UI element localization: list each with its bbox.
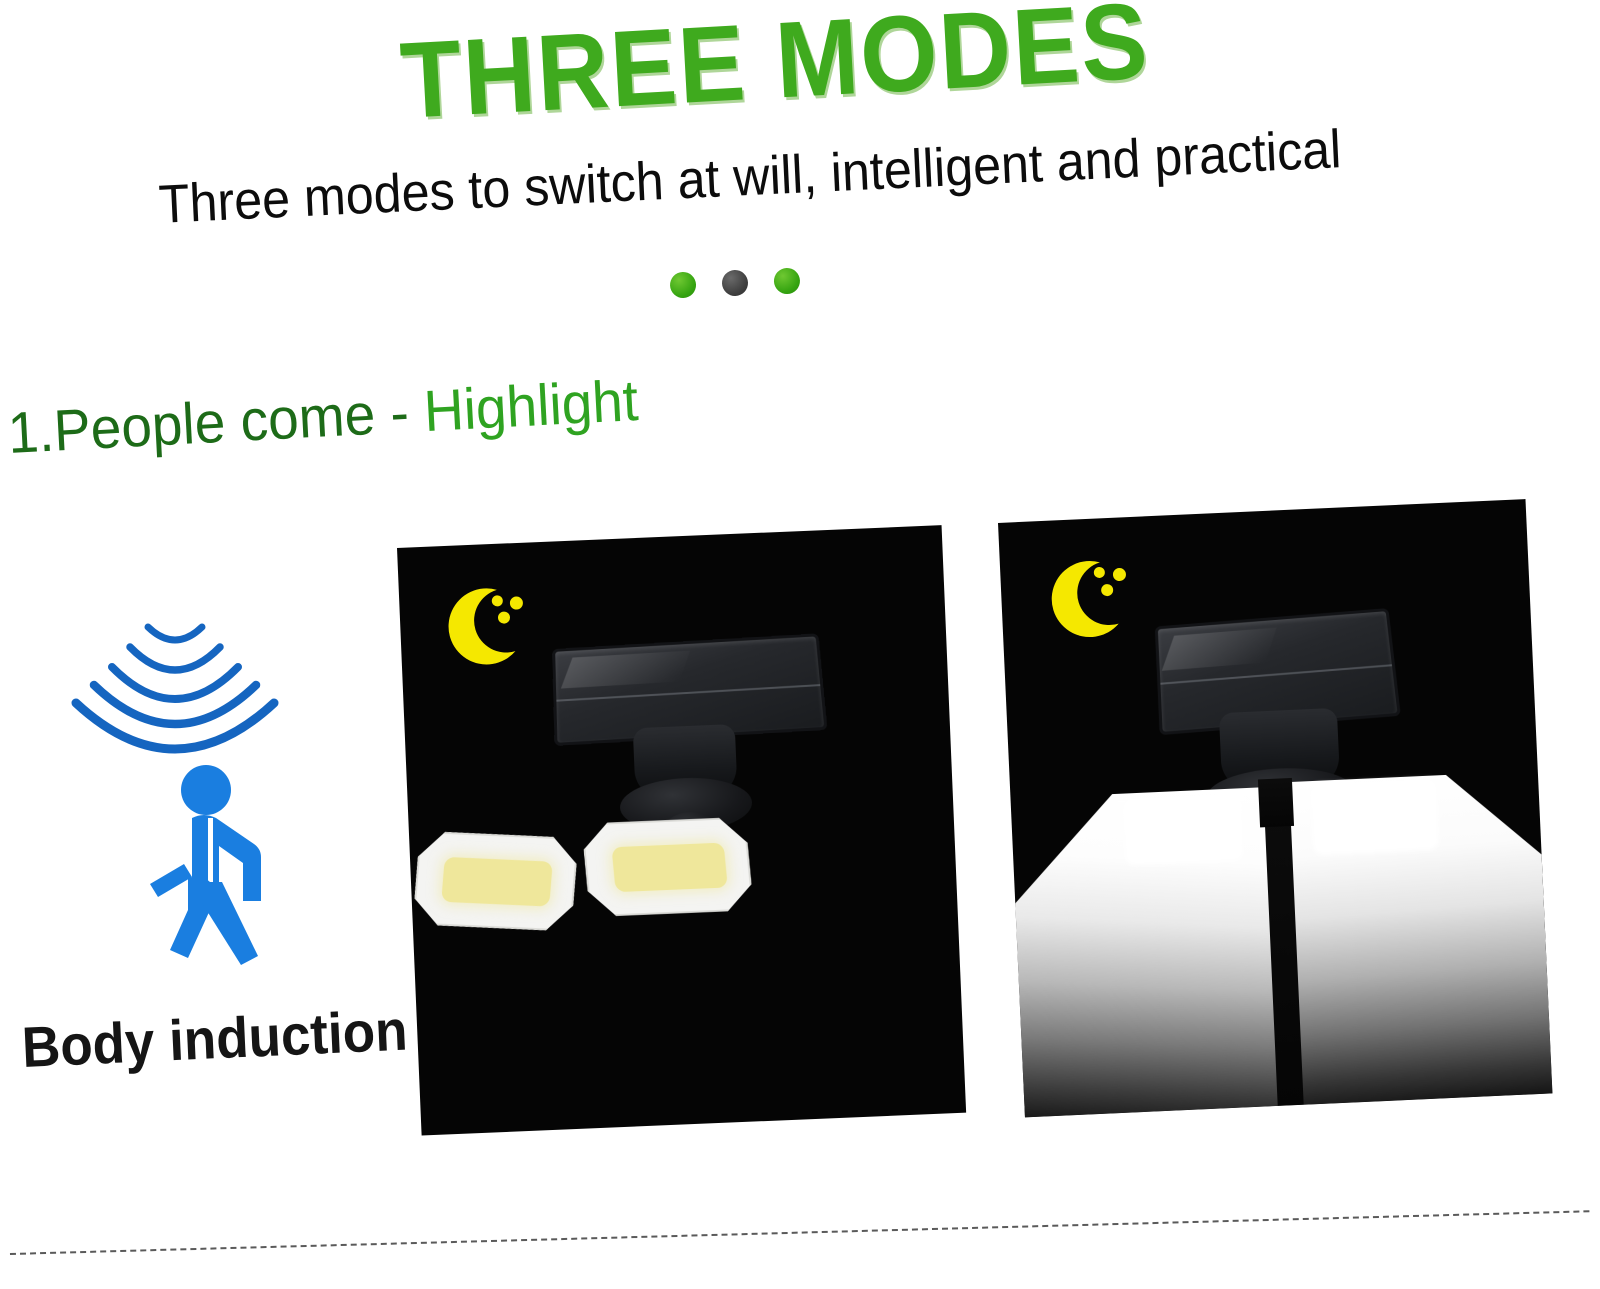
pagination-dot-1[interactable] [670, 272, 697, 299]
header-block: THREE MODES Three modes to switch at wil… [0, 0, 1600, 250]
center-mount-shadow [1258, 778, 1294, 827]
cob-led-right [611, 843, 727, 892]
page-subtitle: Three modes to switch at will, intellige… [80, 118, 1420, 235]
photo-night-bright [998, 499, 1552, 1117]
light-head-right [581, 817, 754, 917]
photo-night-dim [397, 525, 966, 1135]
light-head-right [1310, 779, 1439, 855]
cob-led-left [441, 857, 553, 907]
solar-light-fixture [397, 525, 966, 1135]
pagination-dot-2[interactable] [722, 270, 749, 297]
body-induction-group: Body induction [50, 595, 400, 1095]
section-heading: 1.People come - Highlight [6, 372, 639, 463]
light-head-left [1123, 794, 1244, 865]
section-number: 1. [6, 399, 55, 466]
body-induction-caption: Body induction [21, 1003, 409, 1077]
page-title: THREE MODES [398, 0, 1102, 135]
motion-wave-icon [60, 605, 290, 755]
pagination-dots [669, 266, 800, 301]
pagination-dot-3[interactable] [773, 268, 800, 295]
light-head-left [412, 831, 578, 932]
walking-person-icon [130, 760, 310, 1000]
section-label: People come - [52, 379, 425, 463]
section-highlight: Highlight [422, 368, 640, 444]
section-divider [10, 1210, 1590, 1257]
